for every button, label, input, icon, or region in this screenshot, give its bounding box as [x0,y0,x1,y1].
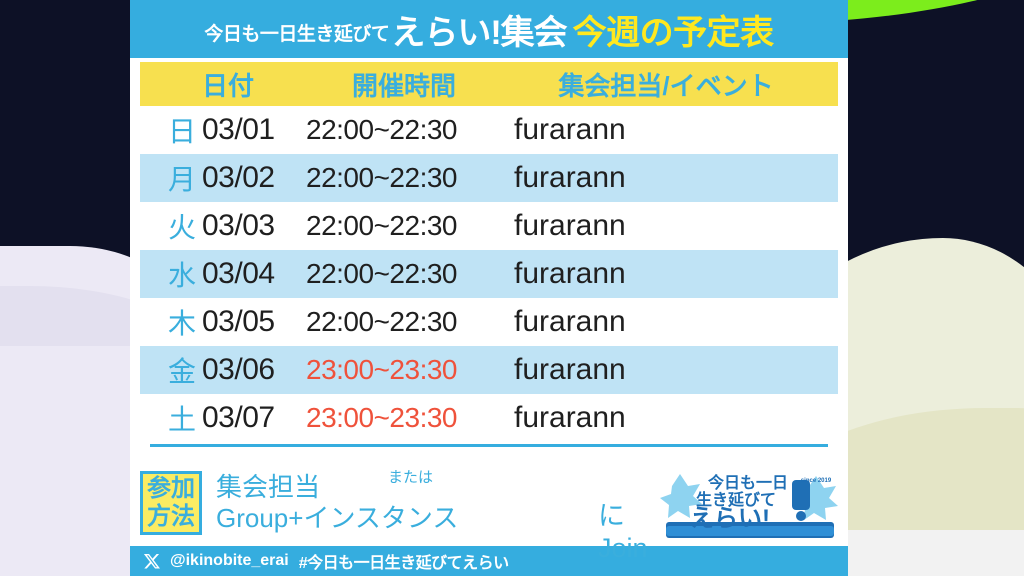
cell-day: 金 [140,350,202,390]
cell-day: 火 [140,206,202,246]
cell-host: furarann [502,257,838,291]
social-hashtag: #今日も一日生き延びてえらい [299,549,509,573]
title-lead-text: 今日も一日生き延びて [204,19,389,46]
title-bar: 今日も一日生き延びて えらい!集会 今週の予定表 [130,0,848,58]
join-text-block: 集会担当 Group+インスタンス または にJoin [216,472,458,534]
table-row: 土03/0723:00~23:30furarann [140,394,838,442]
cell-date: 03/07 [202,401,306,435]
social-handle: @ikinobite_erai [170,552,289,570]
cell-date: 03/04 [202,257,306,291]
cell-time: 22:00~22:30 [306,114,502,146]
cell-host: furarann [502,353,838,387]
table-row: 日03/0122:00~22:30furarann [140,106,838,154]
cell-date: 03/01 [202,113,306,147]
cell-host: furarann [502,113,838,147]
table-row: 火03/0322:00~22:30furarann [140,202,838,250]
table-row: 金03/0623:00~23:30furarann [140,346,838,394]
join-option-2: Group+インスタンス [216,502,458,534]
title-main-text: えらい!集会 [391,5,566,54]
schedule-card: 今日も一日生き延びて えらい!集会 今週の予定表 日付 開催時間 集会担当/イベ… [130,0,848,576]
table-row: 水03/0422:00~22:30furarann [140,250,838,298]
table-body: 日03/0122:00~22:30furarann月03/0222:00~22:… [140,106,838,442]
join-badge-line2: 方法 [147,503,195,531]
section-divider [150,444,828,447]
cell-time: 22:00~22:30 [306,162,502,194]
join-connector: または [388,466,433,487]
table-row: 木03/0522:00~22:30furarann [140,298,838,346]
join-badge: 参加 方法 [140,471,202,535]
cell-date: 03/03 [202,209,306,243]
cell-day: 土 [140,398,202,438]
join-suffix: にJoin [598,494,648,564]
cell-time: 22:00~22:30 [306,306,502,338]
cell-date: 03/02 [202,161,306,195]
logo-line3: えらい! [690,505,770,532]
cell-time: 23:00~23:30 [306,354,502,386]
table-row: 月03/0222:00~22:30furarann [140,154,838,202]
join-instructions: 参加 方法 集会担当 Group+インスタンス または にJoin 今日も一日 [130,460,848,546]
schedule-table: 日付 開催時間 集会担当/イベント 日03/0122:00~22:30furar… [130,58,848,460]
cell-time: 22:00~22:30 [306,210,502,242]
title-accent-text: 今週の予定表 [573,5,774,54]
column-header-time: 開催時間 [306,66,502,103]
cell-day: 月 [140,158,202,198]
brand-logo: 今日も一日 生き延びて えらい! since 2019 [660,466,840,544]
screenshot-stage: 今日も一日生き延びて えらい!集会 今週の予定表 日付 開催時間 集会担当/イベ… [0,0,1024,576]
logo-since: since 2019 [801,478,832,484]
logo-line1: 今日も一日 [707,473,788,492]
join-badge-line1: 参加 [147,475,195,503]
table-header-row: 日付 開催時間 集会担当/イベント [140,62,838,106]
cell-host: furarann [502,401,838,435]
column-header-host: 集会担当/イベント [502,66,838,103]
cell-host: furarann [502,161,838,195]
cell-host: furarann [502,209,838,243]
cell-day: 木 [140,302,202,342]
cell-host: furarann [502,305,838,339]
cell-date: 03/06 [202,353,306,387]
x-logo-icon [144,553,160,569]
cell-time: 23:00~23:30 [306,402,502,434]
cell-date: 03/05 [202,305,306,339]
cell-day: 日 [140,110,202,150]
social-bar: @ikinobite_erai #今日も一日生き延びてえらい [130,546,848,576]
cell-day: 水 [140,254,202,294]
cell-time: 22:00~22:30 [306,258,502,290]
column-header-date: 日付 [202,66,306,103]
